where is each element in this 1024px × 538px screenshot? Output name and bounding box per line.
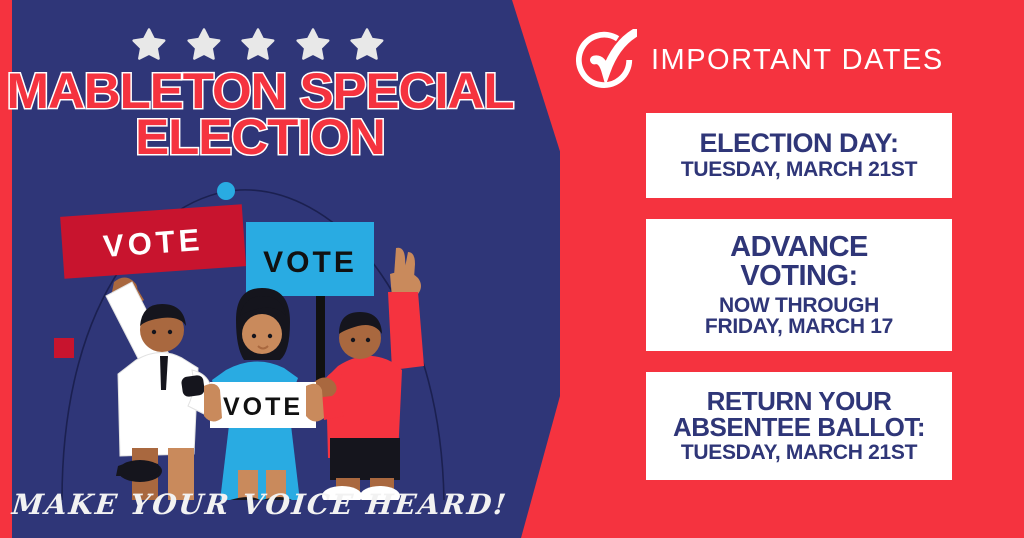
tagline: MAKE YOUR VOICE HEARD! — [0, 488, 522, 521]
date-box-title: ADVANCEVOTING: — [730, 233, 868, 291]
star-rating-row — [130, 26, 386, 66]
headline-line-2: ELECTION — [0, 114, 525, 160]
important-dates-title: IMPORTANT DATES — [651, 44, 944, 77]
svg-text:VOTE: VOTE — [223, 393, 303, 421]
date-box-election-day: ELECTION DAY: TUESDAY, MARCH 21ST — [646, 113, 952, 198]
page-title: MABLETON SPECIAL ELECTION — [0, 68, 520, 160]
accent-square — [54, 338, 74, 358]
date-box-subtitle: NOW THROUGHFRIDAY, MARCH 17 — [705, 295, 893, 338]
circle-check-icon — [575, 29, 637, 91]
star-icon — [294, 27, 332, 65]
star-icon — [185, 27, 223, 65]
star-icon — [239, 27, 277, 65]
date-box-advance-voting: ADVANCEVOTING: NOW THROUGHFRIDAY, MARCH … — [646, 219, 952, 351]
vote-sign-red: VOTE — [60, 204, 246, 279]
date-box-title: ELECTION DAY: — [699, 130, 898, 157]
star-icon — [130, 27, 168, 65]
date-box-subtitle: TUESDAY, MARCH 21ST — [681, 442, 917, 463]
headline-line-1: MABLETON SPECIAL — [0, 68, 525, 114]
three-voters-illustration: VOTE VOTE — [40, 170, 480, 500]
date-box-absentee-ballot: RETURN YOURABSENTEE BALLOT: TUESDAY, MAR… — [646, 372, 952, 480]
date-box-title: RETURN YOURABSENTEE BALLOT: — [673, 388, 925, 440]
svg-text:VOTE: VOTE — [263, 246, 357, 279]
important-dates-header: IMPORTANT DATES — [575, 30, 975, 90]
date-box-subtitle: TUESDAY, MARCH 21ST — [681, 159, 917, 180]
arc-dot — [217, 182, 235, 200]
svg-text:VOTE: VOTE — [102, 222, 205, 264]
star-icon — [348, 27, 386, 65]
election-poster: MABLETON SPECIAL ELECTION VOTE — [0, 0, 1024, 538]
